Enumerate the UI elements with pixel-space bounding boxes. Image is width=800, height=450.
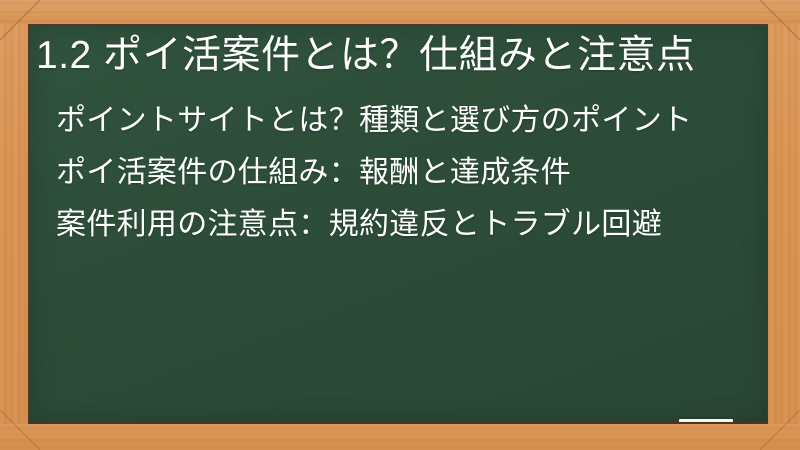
slide-bullet-item-2: ポイ活案件の仕組み：報酬と達成条件 <box>56 158 762 188</box>
slide-bullet-item-1: ポイントサイトとは？種類と選び方のポイント <box>56 106 762 136</box>
frame-rail-top <box>0 0 800 24</box>
slide-title: 1.2 ポイ活案件とは？仕組みと注意点 <box>36 33 762 79</box>
slide-bullet-item-3: 案件利用の注意点：規約違反とトラブル回避 <box>56 210 762 240</box>
frame-rail-bottom <box>0 424 800 450</box>
slide-bullet-list: ポイントサイトとは？種類と選び方のポイント ポイ活案件の仕組み：報酬と達成条件 … <box>56 106 762 240</box>
chalk-stick-icon <box>679 419 733 424</box>
chalkboard-slide: 1.2 ポイ活案件とは？仕組みと注意点 ポイントサイトとは？種類と選び方のポイン… <box>0 0 800 450</box>
blackboard-surface: 1.2 ポイ活案件とは？仕組みと注意点 ポイントサイトとは？種類と選び方のポイン… <box>28 24 768 424</box>
blackboard-content: 1.2 ポイ活案件とは？仕組みと注意点 ポイントサイトとは？種類と選び方のポイン… <box>30 26 767 422</box>
